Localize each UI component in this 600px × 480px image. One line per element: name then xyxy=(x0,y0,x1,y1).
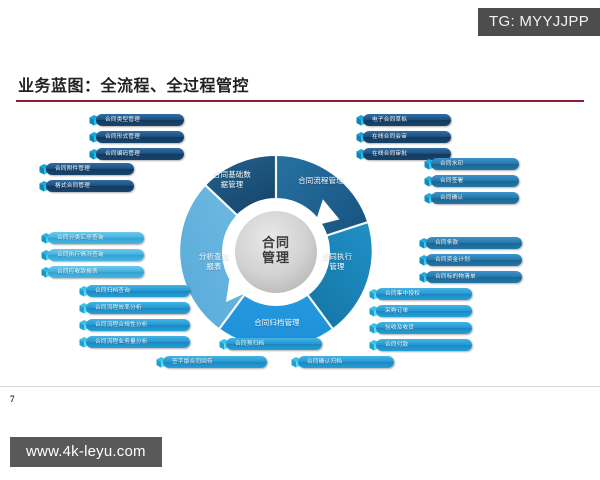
telegram-watermark: TG: MYYJJPP xyxy=(478,8,600,36)
node-left-upper-1[interactable]: 格式合同管理 xyxy=(38,180,134,192)
node-pill[interactable]: 合同签署 xyxy=(431,175,519,187)
node-pill[interactable]: 合同形式管理 xyxy=(96,131,184,143)
diagram-canvas: 合同基础数 据管理 合同流程管理 合同执行 管理 合同归档管理 分析查询 报表 … xyxy=(0,104,600,380)
node-right-middle-2[interactable]: 合同标的物清单 xyxy=(418,271,522,283)
node-pill[interactable]: 合同集中授权 xyxy=(376,288,472,300)
node-pill[interactable]: 合同归档查询 xyxy=(86,285,190,297)
node-right-middle-1[interactable]: 合同资金计划 xyxy=(418,254,522,266)
node-pill[interactable]: 格式合同管理 xyxy=(46,180,134,192)
node-right-lower-2[interactable]: 验收及收货 xyxy=(368,322,472,334)
node-pill[interactable]: 合同流程合规性分析 xyxy=(86,319,190,331)
node-pill[interactable]: 在线合同会审 xyxy=(363,131,451,143)
node-bottom-left-1[interactable]: 合同流程效率分析 xyxy=(78,302,190,314)
node-pill[interactable]: 合同付款 xyxy=(376,339,472,351)
node-pill[interactable]: 合同流程业务量分析 xyxy=(86,336,190,348)
site-watermark: www.4k-leyu.com xyxy=(10,437,162,467)
node-pill[interactable]: 合同资金计划 xyxy=(426,254,522,266)
node-right-lower-3[interactable]: 合同付款 xyxy=(368,339,472,351)
node-bottom-center-2[interactable]: 合同确认归档 xyxy=(290,356,394,368)
node-pill[interactable]: 验收及收货 xyxy=(376,322,472,334)
node-right-upper-2[interactable]: 合同确认 xyxy=(423,192,519,204)
title-divider xyxy=(16,100,584,102)
wheel-svg xyxy=(170,146,382,358)
node-right-lower-0[interactable]: 合同集中授权 xyxy=(368,288,472,300)
node-pill[interactable]: 合同编码管理 xyxy=(96,148,184,160)
node-pill[interactable]: 签字版合同回传 xyxy=(163,356,267,368)
slide-root: TG: MYYJJPP 业务蓝图：全流程、全过程管控 xyxy=(0,0,600,480)
node-right-middle-0[interactable]: 合同条款 xyxy=(418,237,522,249)
node-pill[interactable]: 合同应收款报表 xyxy=(48,266,144,278)
node-pill[interactable]: 合同条款 xyxy=(426,237,522,249)
page-title: 业务蓝图：全流程、全过程管控 xyxy=(18,72,249,96)
node-right-upper-0[interactable]: 合同水印 xyxy=(423,158,519,170)
node-pill[interactable]: 合同执行情况查询 xyxy=(48,249,144,261)
node-pill[interactable]: 合同附件管理 xyxy=(46,163,134,175)
node-pill[interactable]: 合同确认归档 xyxy=(298,356,394,368)
node-bottom-center-1[interactable]: 签字版合同回传 xyxy=(155,356,267,368)
node-bottom-left-0[interactable]: 合同归档查询 xyxy=(78,285,190,297)
node-pill[interactable]: 合同水印 xyxy=(431,158,519,170)
node-right-upper-1[interactable]: 合同签署 xyxy=(423,175,519,187)
node-top-left-2[interactable]: 合同编码管理 xyxy=(88,148,184,160)
node-top-right-1[interactable]: 在线合同会审 xyxy=(355,131,451,143)
node-top-left-0[interactable]: 合同类型管理 xyxy=(88,114,184,126)
footer-divider xyxy=(0,386,600,387)
node-bottom-left-2[interactable]: 合同流程合规性分析 xyxy=(78,319,190,331)
node-pill[interactable]: 合同分类汇总查询 xyxy=(48,232,144,244)
node-left-lower-1[interactable]: 合同执行情况查询 xyxy=(40,249,144,261)
node-pill[interactable]: 合同预归档 xyxy=(226,338,322,350)
node-pill[interactable]: 电子合同草拟 xyxy=(363,114,451,126)
node-bottom-left-3[interactable]: 合同流程业务量分析 xyxy=(78,336,190,348)
node-pill[interactable]: 合同类型管理 xyxy=(96,114,184,126)
node-left-upper-0[interactable]: 合同附件管理 xyxy=(38,163,134,175)
node-bottom-center-0[interactable]: 合同预归档 xyxy=(218,338,322,350)
wheel-hub[interactable] xyxy=(235,211,317,293)
node-pill[interactable]: 合同确认 xyxy=(431,192,519,204)
node-pill[interactable]: 合同标的物清单 xyxy=(426,271,522,283)
contract-management-wheel: 合同基础数 据管理 合同流程管理 合同执行 管理 合同归档管理 分析查询 报表 … xyxy=(170,146,382,358)
node-left-lower-0[interactable]: 合同分类汇总查询 xyxy=(40,232,144,244)
node-left-lower-2[interactable]: 合同应收款报表 xyxy=(40,266,144,278)
node-pill[interactable]: 合同流程效率分析 xyxy=(86,302,190,314)
page-number: 7 xyxy=(10,394,15,404)
node-pill[interactable]: 采购订单 xyxy=(376,305,472,317)
node-right-lower-1[interactable]: 采购订单 xyxy=(368,305,472,317)
node-top-left-1[interactable]: 合同形式管理 xyxy=(88,131,184,143)
node-top-right-0[interactable]: 电子合同草拟 xyxy=(355,114,451,126)
